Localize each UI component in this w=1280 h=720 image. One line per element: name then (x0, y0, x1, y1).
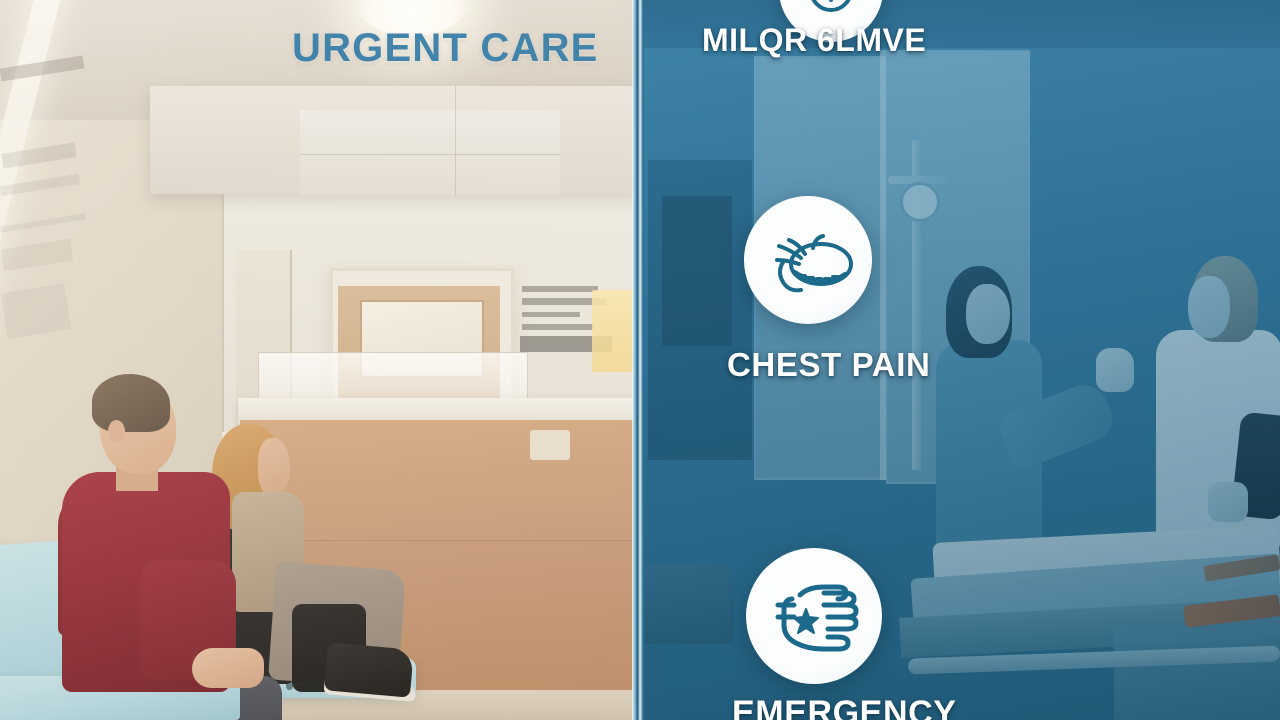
split-comparison-image: URGENT CARE (0, 0, 1280, 720)
pressure-gauge-icon (900, 182, 940, 222)
urgent-care-panel: URGENT CARE (0, 0, 638, 720)
badge-emergency[interactable] (746, 548, 882, 684)
seated-man-hands (192, 648, 264, 688)
ceiling-panel (300, 110, 560, 196)
seated-man-ear (108, 420, 125, 443)
badge-emergency-label: EMERGENCY (732, 694, 957, 720)
seated-man-hair (92, 374, 170, 432)
seated-woman-shoe (324, 642, 414, 697)
counter-object (530, 430, 570, 460)
hospital-bed-headboard (644, 564, 734, 644)
wall-sign-illegible (0, 52, 92, 342)
ceiling-seam (455, 86, 456, 196)
seated-woman-face (258, 438, 290, 496)
doctor-face (1188, 276, 1230, 338)
equipment-cart (1114, 628, 1280, 720)
urgent-care-heading: URGENT CARE (292, 26, 599, 71)
chest-pain-icon (761, 220, 855, 300)
yellow-poster (592, 290, 634, 372)
circle-badge-icon (801, 0, 861, 20)
doctor-hand (1208, 482, 1248, 522)
er-wall-panel (662, 196, 732, 346)
hand-star-icon (764, 573, 864, 659)
er-door-seam (880, 50, 886, 480)
badge-chest-pain[interactable] (744, 196, 872, 324)
nurse-hand (1096, 348, 1134, 392)
badge-top-label: MILQR 6LMVE (702, 22, 926, 59)
nurse-face (966, 284, 1010, 344)
badge-chest-pain-label: CHEST PAIN (727, 346, 930, 384)
